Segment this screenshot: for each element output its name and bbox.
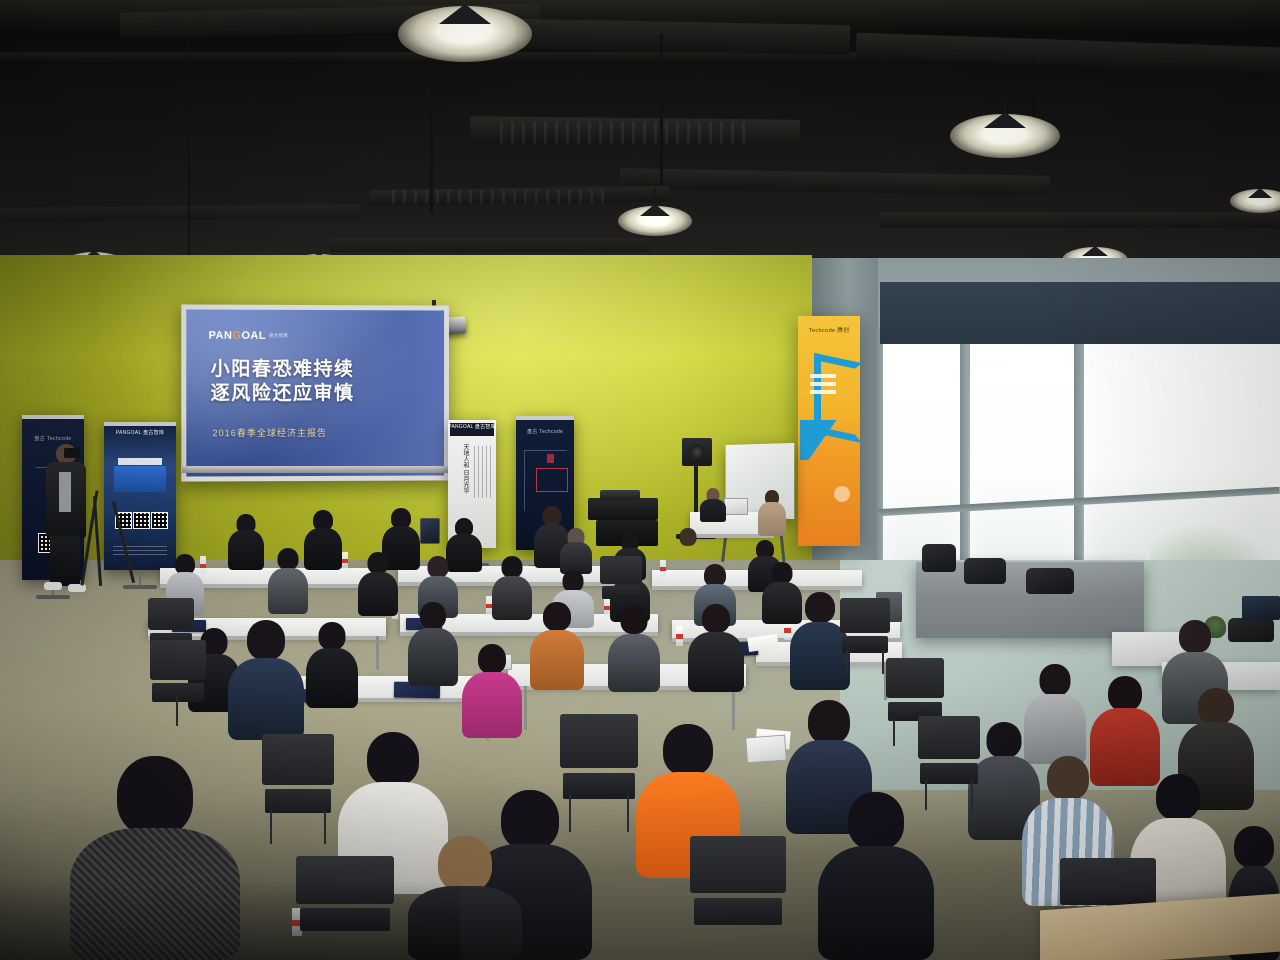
photo-scene: PANGOAL 盘古智库 小阳春恐难持续 逐风险还应审慎 2016春季全球经济主… [0,0,1280,960]
person-torso [688,632,744,692]
screen-bottom-bar [182,466,450,473]
av-equipment-table [588,498,658,520]
person-shirt [59,472,71,512]
folding-chair [296,856,394,960]
person-head [117,756,193,836]
banner-red-outline [536,468,568,492]
person-attendee [530,602,584,690]
person-attendee [688,604,744,692]
person-head [1234,826,1274,868]
person-head [368,552,389,574]
attendee-tablet [420,518,440,544]
banner-vertical-calligraphy: 天地人和 日月光华 [457,444,468,494]
person-head [663,724,713,776]
person-head [367,732,419,786]
person-attendee [228,620,304,740]
person-torso [758,502,786,536]
person-attendee [408,836,522,960]
slide-logo-text: PANGOAL [209,330,266,342]
person-head [420,602,446,629]
person-head [848,792,904,850]
water-bottle [660,560,666,577]
person-torso [358,572,398,616]
person-attendee [306,622,358,708]
banner-qr-icon [151,512,168,529]
slide-logo-sub: 盘古智库 [269,333,288,338]
person-head [808,700,850,744]
banner-stage-navy-label: 盘古 Techcode [516,430,574,436]
banner-stand [139,570,141,586]
person-attendee [492,556,532,620]
person-attendee [408,602,458,686]
laptop-case [1242,596,1280,620]
attendee-laptop [745,735,787,764]
person-head [1156,774,1200,820]
banner-white-dot [834,486,850,502]
banner-cyan-arrow [800,420,848,460]
banner-headline-block [114,466,166,492]
folding-chair [840,598,890,674]
person-head [502,556,523,578]
backpack [1026,568,1074,594]
person-torso [700,499,726,522]
duffel-bag [1228,618,1274,642]
person-attendee [268,548,308,614]
head-table-laptop [724,498,748,515]
person-attendee [70,756,240,960]
banner-left-dark-label: 盘古 Techcode [22,437,84,443]
person-front-row-suit [228,514,264,570]
banner-top-cap [22,415,84,419]
person-torso [228,530,264,570]
presentation-slide: PANGOAL 盘古智库 小阳春恐难持续 逐风险还应审慎 2016春季全球经济主… [186,309,444,476]
folding-chair [918,716,980,810]
banner-red-mark [547,454,554,463]
person-head [1198,688,1234,725]
person-head [563,570,584,592]
banner-top-cap [104,422,176,426]
banner-right-yellow-label: Techcode 腾创 [798,328,860,334]
window-valance [880,282,1280,344]
person-head [1179,620,1211,653]
banner-ribbon [118,458,162,465]
banner-base [36,595,70,599]
person-front-row-suit [304,510,342,570]
person-head [805,592,835,623]
backpack [922,544,956,572]
person-head [428,556,449,578]
person-torso [306,648,358,708]
office-chair [150,640,206,726]
person-torso [462,672,522,738]
person-torso [228,658,304,740]
folding-chair [262,734,334,844]
person-magenta-jacket [462,644,522,738]
person-attendee [818,792,934,960]
person-head [702,604,730,633]
person-shoes [44,582,62,590]
av-mixer [600,490,640,500]
person-torso [818,846,934,960]
person-torso [268,568,308,614]
banner-top-cap [516,416,574,420]
person-attendee [608,606,660,692]
slide-subtitle: 2016春季全球经济主报告 [213,426,327,439]
person-head [1108,676,1142,711]
person-head [772,562,793,584]
person-legs [50,536,80,586]
person-speaker [700,488,726,522]
pendant-lamp-icon [398,0,532,66]
folding-chair [600,556,642,616]
person-torso [408,628,458,686]
person-back-row [560,528,592,574]
person-head [478,644,506,674]
water-bottle [342,552,348,569]
camera-icon [64,448,80,458]
person-head [278,548,299,570]
banner-base [123,585,157,589]
person-panel-assistant [758,490,786,536]
person-torso [608,634,660,692]
slide-logo: PANGOAL 盘古智库 [209,330,289,342]
slide-headline-line2: 逐风险还应审慎 [211,382,355,406]
pendant-lamp-icon [1230,186,1280,218]
window-mullion [876,328,883,598]
person-torso [408,886,522,960]
person-head [438,836,492,892]
banner-headline-cn [810,374,836,396]
banner-orange-block [798,466,860,546]
window-mullion [1074,304,1083,604]
person-torso [304,528,342,570]
person-attendee [358,552,398,616]
banner-qr-icon [133,512,150,529]
water-bottle [676,626,683,646]
backpack [964,558,1006,584]
folding-chair [560,714,638,832]
table-leg [524,686,527,730]
person-torso [70,828,240,960]
table-leg [376,636,379,670]
folding-chair [690,836,786,960]
person-head [987,722,1022,758]
slide-logo-accent: G [232,330,241,342]
person-torso [492,576,532,620]
person-head [543,602,571,631]
pendant-lamp-icon [950,100,1060,156]
banner-left-blue: PANGOAL 盘古智库 [104,422,176,570]
banner-left-blue-label: PANGOAL 盘古智库 [104,431,176,437]
banner-stage-white-label: PANGOAL 盘古智库 [448,425,496,431]
window-pane [970,324,1074,592]
person-head [543,506,562,526]
person-head [1047,756,1089,800]
projection-screen: PANGOAL 盘古智库 小阳春恐难持续 逐风险还应审慎 2016春季全球经济主… [181,304,449,481]
person-torso [530,630,584,690]
pa-speaker [682,438,712,466]
person-head [319,622,346,650]
banner-body-text [474,446,492,498]
person-head [1040,664,1071,696]
slide-headline-line1: 小阳春恐难持续 [211,358,355,383]
slide-headline: 小阳春恐难持续 逐风险还应审慎 [211,358,355,407]
person-photographer [42,444,86,594]
banner-footer-text [113,546,167,556]
banner-right-yellow: Techcode 腾创 [798,316,860,546]
person-head [247,620,285,660]
pendant-lamp-icon [618,188,692,230]
